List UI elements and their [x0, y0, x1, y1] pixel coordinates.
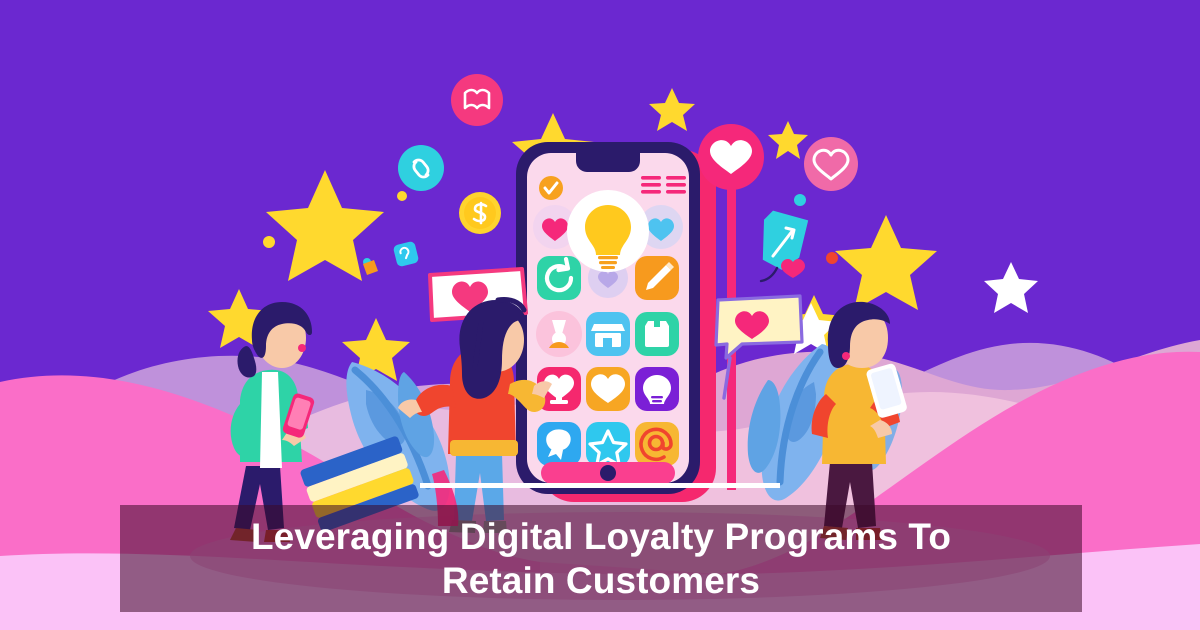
page-title: Leveraging Digital Loyalty Programs To R… — [233, 515, 969, 602]
title-overlay-box: Leveraging Digital Loyalty Programs To R… — [120, 505, 1082, 612]
title-line-1: Leveraging Digital Loyalty Programs To — [251, 515, 951, 558]
banner-image: Leveraging Digital Loyalty Programs To R… — [0, 0, 1200, 630]
white-divider-line — [420, 483, 780, 488]
title-line-2: Retain Customers — [251, 559, 951, 602]
